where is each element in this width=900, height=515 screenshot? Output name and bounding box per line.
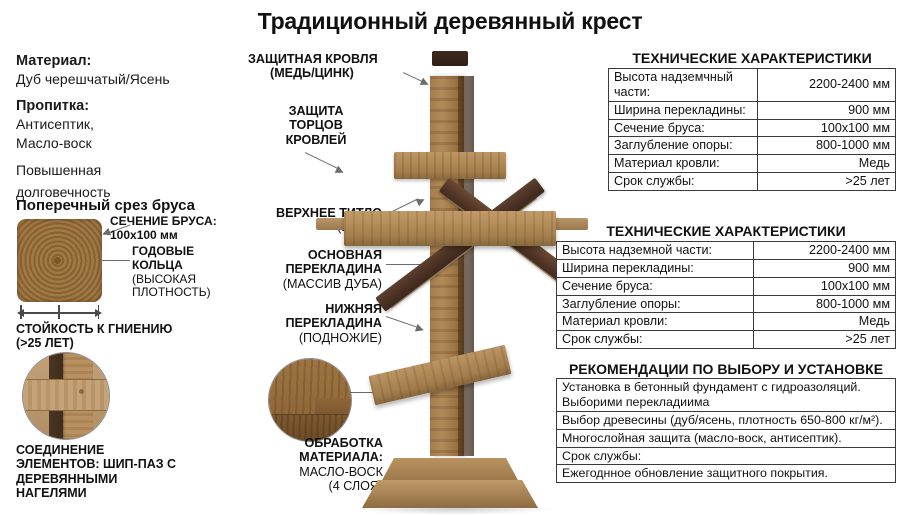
growth-ring-core [54, 257, 61, 264]
material-label: Материал: [16, 52, 246, 70]
growth-rings-line2: КОЛЬЦА [132, 258, 183, 272]
spec-table-1: Высота надземчный части:2200-2400 ммШири… [608, 68, 896, 191]
growth-rings-line1: ГОДОВЫЕ [132, 244, 194, 258]
rot-resistance-label: СТОЙКОСТЬ К ГНИЕНИЮ (>25 ЛЕТ) [16, 322, 246, 351]
recommendation-row: Выбор древесины (дуб/ясень, плотность 65… [557, 411, 896, 429]
spec-key: Срок службы: [609, 173, 758, 191]
page-title: Традиционный деревянный крест [0, 8, 900, 35]
spec-key: Сечение бруса: [609, 119, 758, 137]
recommendation-row: Ежегоднное обновление защитного покрытия… [557, 465, 896, 483]
spec-key: Заглубление опоры: [557, 295, 754, 313]
spec-value: >25 лет [758, 173, 896, 191]
recommendation-row: Установка в бетонный фундамент с гидроаз… [557, 379, 896, 412]
spec-value: >25 лет [753, 331, 895, 349]
spec-value: Медь [758, 155, 896, 173]
spec-value: 2200-2400 мм [758, 69, 896, 102]
table-row: Ширина перекладины:900 мм [609, 101, 896, 119]
spec-key: Высота надземной части: [557, 242, 754, 260]
beam-section-label-text: СЕЧЕНИЕ БРУСА: [110, 214, 217, 228]
table-row: Высота надземной части:2200-2400 мм [557, 242, 896, 260]
impregnation-value-line1: Антисептик, [16, 115, 246, 133]
growth-rings-sub1: (ВЫСОКАЯ [132, 272, 196, 286]
ground-shadow [354, 503, 554, 515]
spec-value: 900 мм [758, 101, 896, 119]
spec-value: 100x100 мм [753, 277, 895, 295]
rot-resistance-line1: СТОЙКОСТЬ К ГНИЕНИЮ [16, 322, 172, 336]
spec-value: Медь [753, 313, 895, 331]
recommendation-text: Ежегоднное обновление защитного покрытия… [557, 465, 896, 483]
spec-key: Ширина перекладины: [557, 259, 754, 277]
growth-rings-label: ГОДОВЫЕ КОЛЬЦА (ВЫСОКАЯ ПЛОТНОСТЬ) [132, 245, 242, 300]
table-row: Высота надземчный части:2200-2400 мм [609, 69, 896, 102]
joint-horizontal-beam [23, 379, 109, 411]
joint-label-line4: НАГЕЛЯМИ [16, 486, 87, 500]
spec-key: Сечение бруса: [557, 277, 754, 295]
recommendation-row: Срок службы: [557, 447, 896, 465]
cross-main-crossbar [344, 211, 556, 246]
durability-line1: Повышенная [16, 161, 246, 179]
recommendation-text: Установка в бетонный фундамент с гидроаз… [557, 379, 896, 412]
spec-table-1-title: ТЕХНИЧЕСКИЕ ХАРАКТЕРИСТИКИ [608, 50, 896, 66]
joint-label-line3: ДЕРЕВЯННЫМИ [16, 472, 117, 486]
table-row: Срок службы:>25 лет [557, 331, 896, 349]
table-row: Ширина перекладины:900 мм [557, 259, 896, 277]
beam-section-value-text: 100x100 мм [110, 228, 178, 242]
table-row: Заглубление опоры:800-1000 мм [557, 295, 896, 313]
joint-detail-photo [22, 352, 110, 440]
roof-ridge-cap [432, 51, 468, 66]
beam-width-dimension [17, 307, 102, 319]
impregnation-value-line2: Масло-воск [16, 134, 246, 152]
spec-key: Ширина перекладины: [609, 101, 758, 119]
cross-section-title: Поперечный срез бруса [16, 197, 195, 214]
dimension-arrow-left [17, 309, 24, 317]
spec-value: 900 мм [753, 259, 895, 277]
material-value: Дуб черешчатый/Ясень [16, 70, 246, 88]
beam-section-label: СЕЧЕНИЕ БРУСА: 100x100 мм [110, 215, 240, 243]
spec-key: Материал кровли: [609, 155, 758, 173]
impregnation-label: Пропитка: [16, 97, 246, 115]
recommendations-table: Установка в бетонный фундамент с гидроаз… [556, 378, 896, 483]
recommendation-text: Выбор древесины (дуб/ясень, плотность 65… [557, 411, 896, 429]
rot-resistance-line2: (>25 ЛЕТ) [16, 336, 74, 350]
spec-key: Срок службы: [557, 331, 754, 349]
spec-key: Высота надземчный части: [609, 69, 758, 102]
growth-rings-sub2: ПЛОТНОСТЬ) [132, 285, 211, 299]
wooden-peg-icon [79, 389, 84, 394]
beam-end-grain-illustration [17, 219, 102, 302]
recommendations-title: РЕКОМЕНДАЦИИ ПО ВЫБОРУ И УСТАНОВКЕ [556, 361, 896, 377]
left-info-column: Материал: Дуб черешчатый/Ясень Пропитка:… [16, 50, 246, 205]
joint-connection-label: СОЕДИНЕНИЕ ЭЛЕМЕНТОВ: ШИП-ПАЗ С ДЕРЕВЯНН… [16, 443, 246, 501]
dimension-arrow-right [95, 309, 102, 317]
cross-upper-titlo-bar [394, 152, 506, 179]
infographic-page: Традиционный деревянный крест Материал: … [0, 0, 900, 502]
recommendation-text: Срок службы: [557, 447, 896, 465]
joint-label-line1: СОЕДИНЕНИЕ [16, 443, 104, 457]
dimension-bar [21, 312, 98, 314]
spec-value: 2200-2400 мм [753, 242, 895, 260]
spec-table-2: Высота надземной части:2200-2400 ммШирин… [556, 241, 896, 349]
spec-table-2-title: ТЕХНИЧЕСКИЕ ХАРАКТЕРИСТИКИ [556, 223, 896, 239]
table-row: Материал кровли:Медь [557, 313, 896, 331]
table-row: Сечение бруса:100x100 мм [557, 277, 896, 295]
table-row: Сечение бруса:100x100 мм [609, 119, 896, 137]
recommendation-row: Многослойная защита (масло-воск, антисеп… [557, 429, 896, 447]
spec-value: 800-1000 мм [758, 137, 896, 155]
spec-key: Материал кровли: [557, 313, 754, 331]
leader-line-growth-rings [100, 260, 130, 261]
joint-label-line2: ЭЛЕМЕНТОВ: ШИП-ПАЗ С [16, 457, 176, 471]
spec-key: Заглубление опоры: [609, 137, 758, 155]
table-row: Заглубление опоры:800-1000 мм [609, 137, 896, 155]
spec-value: 800-1000 мм [753, 295, 895, 313]
spec-value: 100x100 мм [758, 119, 896, 137]
table-row: Срок службы:>25 лет [609, 173, 896, 191]
recommendation-text: Многослойная защита (масло-воск, антисеп… [557, 429, 896, 447]
cross-post-shadow [458, 76, 474, 456]
table-row: Материал кровли:Медь [609, 155, 896, 173]
